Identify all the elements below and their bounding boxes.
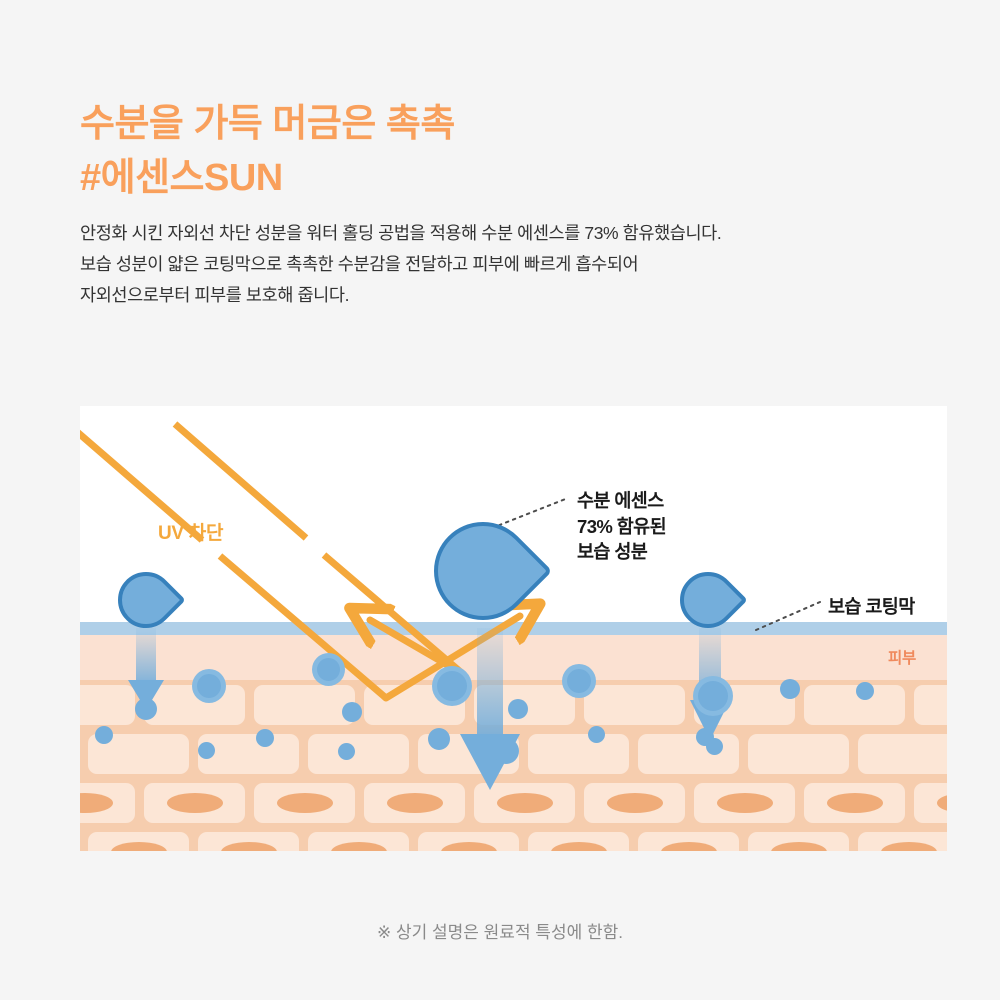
uv-block-label: UV 차단: [158, 518, 223, 545]
moisture-bubble-ringed: [693, 676, 733, 716]
headline-line-1: 수분을 가득 머금은 촉촉: [80, 103, 455, 145]
moisture-bubble-ringed: [562, 664, 596, 698]
essence-callout-line-1: 수분 에센스: [577, 488, 666, 514]
description-line-1: 안정화 시킨 자외선 차단 성분을 워터 홀딩 공법을 적용해 수분 에센스를 …: [80, 218, 721, 249]
skin-label: 피부: [888, 646, 916, 668]
moisture-bubble: [588, 726, 605, 743]
moisture-bubble-ringed: [312, 653, 345, 686]
essence-callout-line-3: 보습 성분: [577, 539, 666, 565]
moisture-bubble: [135, 698, 157, 720]
moisture-bubble: [256, 729, 274, 747]
coating-callout: 보습 코팅막: [828, 594, 915, 620]
essence-callout-line-2: 73% 함유된: [577, 514, 666, 540]
moisture-bubble: [95, 726, 113, 744]
skin-absorption-diagram: UV 차단 수분 에센스 73% 함유된 보습 성분 보습 코팅막: [80, 406, 947, 851]
description-line-2: 보습 성분이 얇은 코팅막으로 촉촉한 수분감을 전달하고 피부에 빠르게 흡수…: [80, 249, 721, 280]
description-paragraph: 안정화 시킨 자외선 차단 성분을 워터 홀딩 공법을 적용해 수분 에센스를 …: [80, 218, 721, 311]
moisture-bubble: [706, 738, 723, 755]
moisture-bubble: [508, 699, 528, 719]
moisture-bubble-ringed: [432, 666, 472, 706]
moisture-bubble: [493, 738, 519, 764]
description-line-3: 자외선으로부터 피부를 보호해 줍니다.: [80, 280, 721, 311]
moisture-bubble: [342, 702, 362, 722]
moisture-bubble: [428, 728, 450, 750]
page-root: 수분을 가득 머금은 촉촉 #에센스SUN 안정화 시킨 자외선 차단 성분을 …: [0, 0, 1000, 1000]
moisture-bubble: [198, 742, 215, 759]
headline-line-2: #에센스SUN: [80, 155, 455, 201]
essence-callout: 수분 에센스 73% 함유된 보습 성분: [577, 488, 666, 565]
moisture-bubble: [856, 682, 874, 700]
moisture-bubble: [338, 743, 355, 760]
moisture-bubble-ringed: [192, 669, 226, 703]
moisture-bubble: [780, 679, 800, 699]
footnote: ※ 상기 설명은 원료적 특성에 한함.: [0, 918, 1000, 943]
